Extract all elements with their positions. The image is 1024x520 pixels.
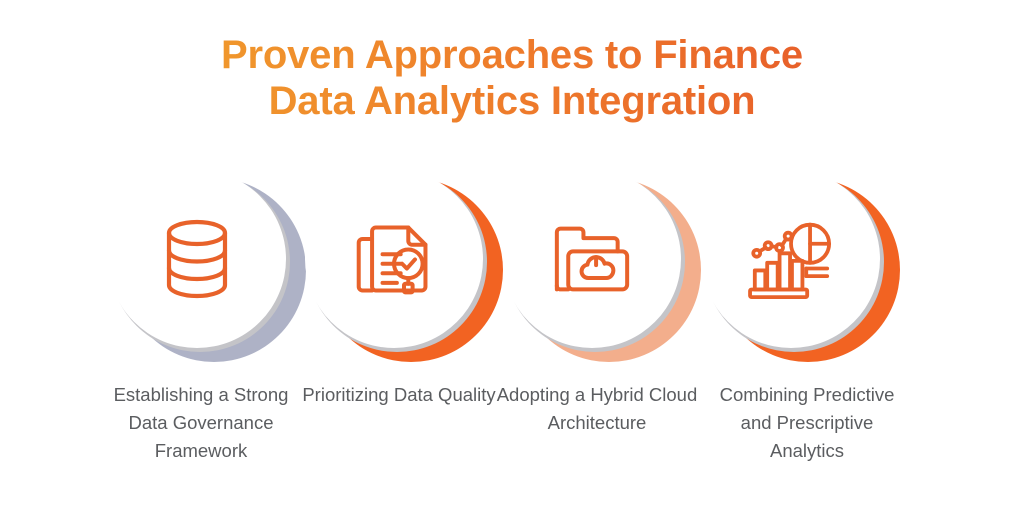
step-disc-4 [702, 170, 880, 348]
step-disc-3 [503, 170, 681, 348]
step-disc-2 [305, 170, 483, 348]
step-circle-1[interactable] [108, 168, 308, 368]
page-title: Proven Approaches to Finance Data Analyt… [0, 32, 1024, 125]
step-caption-2: Prioritizing Data Quality [294, 381, 504, 409]
step-circles-row [0, 168, 1024, 368]
step-disc-1 [108, 170, 286, 348]
step-circle-4[interactable] [702, 168, 902, 368]
analytics-charts-icon [747, 215, 835, 303]
step-caption-3: Adopting a Hybrid Cloud Architecture [492, 381, 702, 437]
title-line-1: Proven Approaches to Finance [0, 32, 1024, 78]
step-circle-3[interactable] [503, 168, 703, 368]
title-line-2: Data Analytics Integration [0, 78, 1024, 124]
infographic-canvas: Proven Approaches to Finance Data Analyt… [0, 0, 1024, 520]
step-circle-2[interactable] [305, 168, 505, 368]
database-icon [153, 215, 241, 303]
step-caption-1: Establishing a Strong Data Governance Fr… [96, 381, 306, 465]
step-captions-row: Establishing a Strong Data Governance Fr… [0, 381, 1024, 511]
folder-cloud-icon [548, 215, 636, 303]
document-check-magnifier-icon [350, 215, 438, 303]
step-caption-4: Combining Predictive and Prescriptive An… [702, 381, 912, 465]
